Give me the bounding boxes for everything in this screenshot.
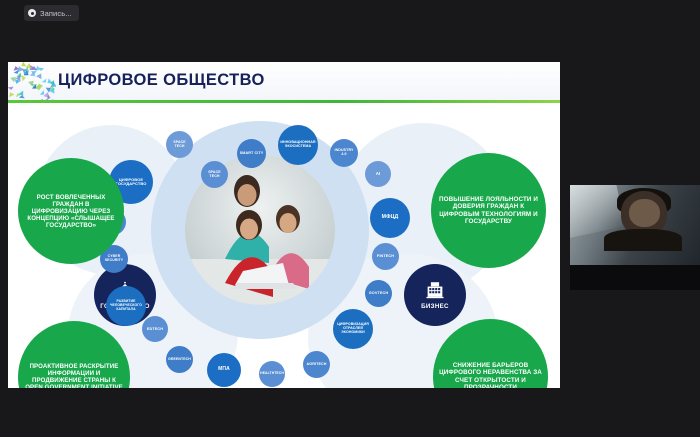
shared-slide[interactable]: ЦИФРОВОЕ ОБЩЕСТВО bbox=[8, 62, 560, 388]
tech-bubble[interactable]: GOVTECH bbox=[365, 280, 392, 307]
pillar-business[interactable]: БИЗНЕС bbox=[404, 264, 466, 326]
participant-face bbox=[629, 199, 660, 228]
tech-bubble[interactable]: МПА bbox=[207, 353, 241, 387]
tech-bubble[interactable]: HEALTHTECH bbox=[259, 361, 285, 387]
tech-bubble[interactable]: РАЗВИТИЕ ЧЕЛОВЕЧЕСКОГО КАПИТАЛА bbox=[106, 286, 146, 326]
tech-bubble[interactable]: AGRITECH bbox=[303, 351, 330, 378]
tech-bubble[interactable]: GREENTECH bbox=[166, 346, 193, 373]
outcome-top-left[interactable]: РОСТ ВОВЛЕЧЕННЫХ ГРАЖДАН В ЦИФРОВИЗАЦИЮ … bbox=[18, 158, 124, 264]
mosaic-triangle-icon bbox=[30, 72, 37, 77]
participant-torso bbox=[604, 229, 682, 251]
mosaic-triangle-icon bbox=[8, 87, 14, 91]
pillar-business-label: БИЗНЕС bbox=[421, 303, 449, 310]
mosaic-decoration-icon bbox=[8, 62, 56, 104]
office-building-icon bbox=[425, 281, 445, 301]
tech-bubble[interactable]: МФЦД bbox=[370, 198, 410, 238]
tech-bubble[interactable]: ИННОВАЦИОННАЯ ЭКОСИСТЕМА bbox=[278, 125, 318, 165]
tech-bubble[interactable]: ЦИФРОВИЗАЦИЯ ОТРАСЛЕЙ ЭКОНОМИКИ bbox=[333, 309, 373, 349]
slide-body: ГОСУДАРСТВО БИЗНЕС bbox=[8, 103, 560, 388]
mosaic-triangle-icon bbox=[31, 66, 37, 70]
video-background bbox=[570, 185, 700, 265]
tech-bubble[interactable]: SPACE TECH bbox=[166, 131, 193, 158]
recording-indicator[interactable]: Запись... bbox=[24, 5, 79, 21]
video-tile-footer bbox=[570, 265, 700, 290]
slide-title: ЦИФРОВОЕ ОБЩЕСТВО bbox=[58, 71, 265, 90]
recording-label: Запись... bbox=[40, 9, 72, 18]
tech-bubble[interactable]: EDTECH bbox=[142, 316, 168, 342]
tech-bubble[interactable]: SMART CITY bbox=[237, 139, 266, 168]
record-dot-icon bbox=[28, 9, 36, 17]
mosaic-triangle-icon bbox=[12, 65, 19, 70]
slide-header: ЦИФРОВОЕ ОБЩЕСТВО bbox=[8, 62, 560, 102]
outcome-top-right[interactable]: ПОВЫШЕНИЕ ЛОЯЛЬНОСТИ И ДОВЕРИЯ ГРАЖДАН К… bbox=[431, 153, 546, 268]
tech-bubble[interactable]: SPACE TECH bbox=[201, 161, 228, 188]
mosaic-triangle-icon bbox=[8, 91, 15, 97]
tech-bubble[interactable]: FINTECH bbox=[372, 243, 399, 270]
tech-bubble[interactable]: INDUSTRY 4.0 bbox=[330, 139, 358, 167]
participant-video-tile[interactable] bbox=[570, 185, 700, 290]
tech-bubble[interactable]: AI bbox=[365, 161, 391, 187]
